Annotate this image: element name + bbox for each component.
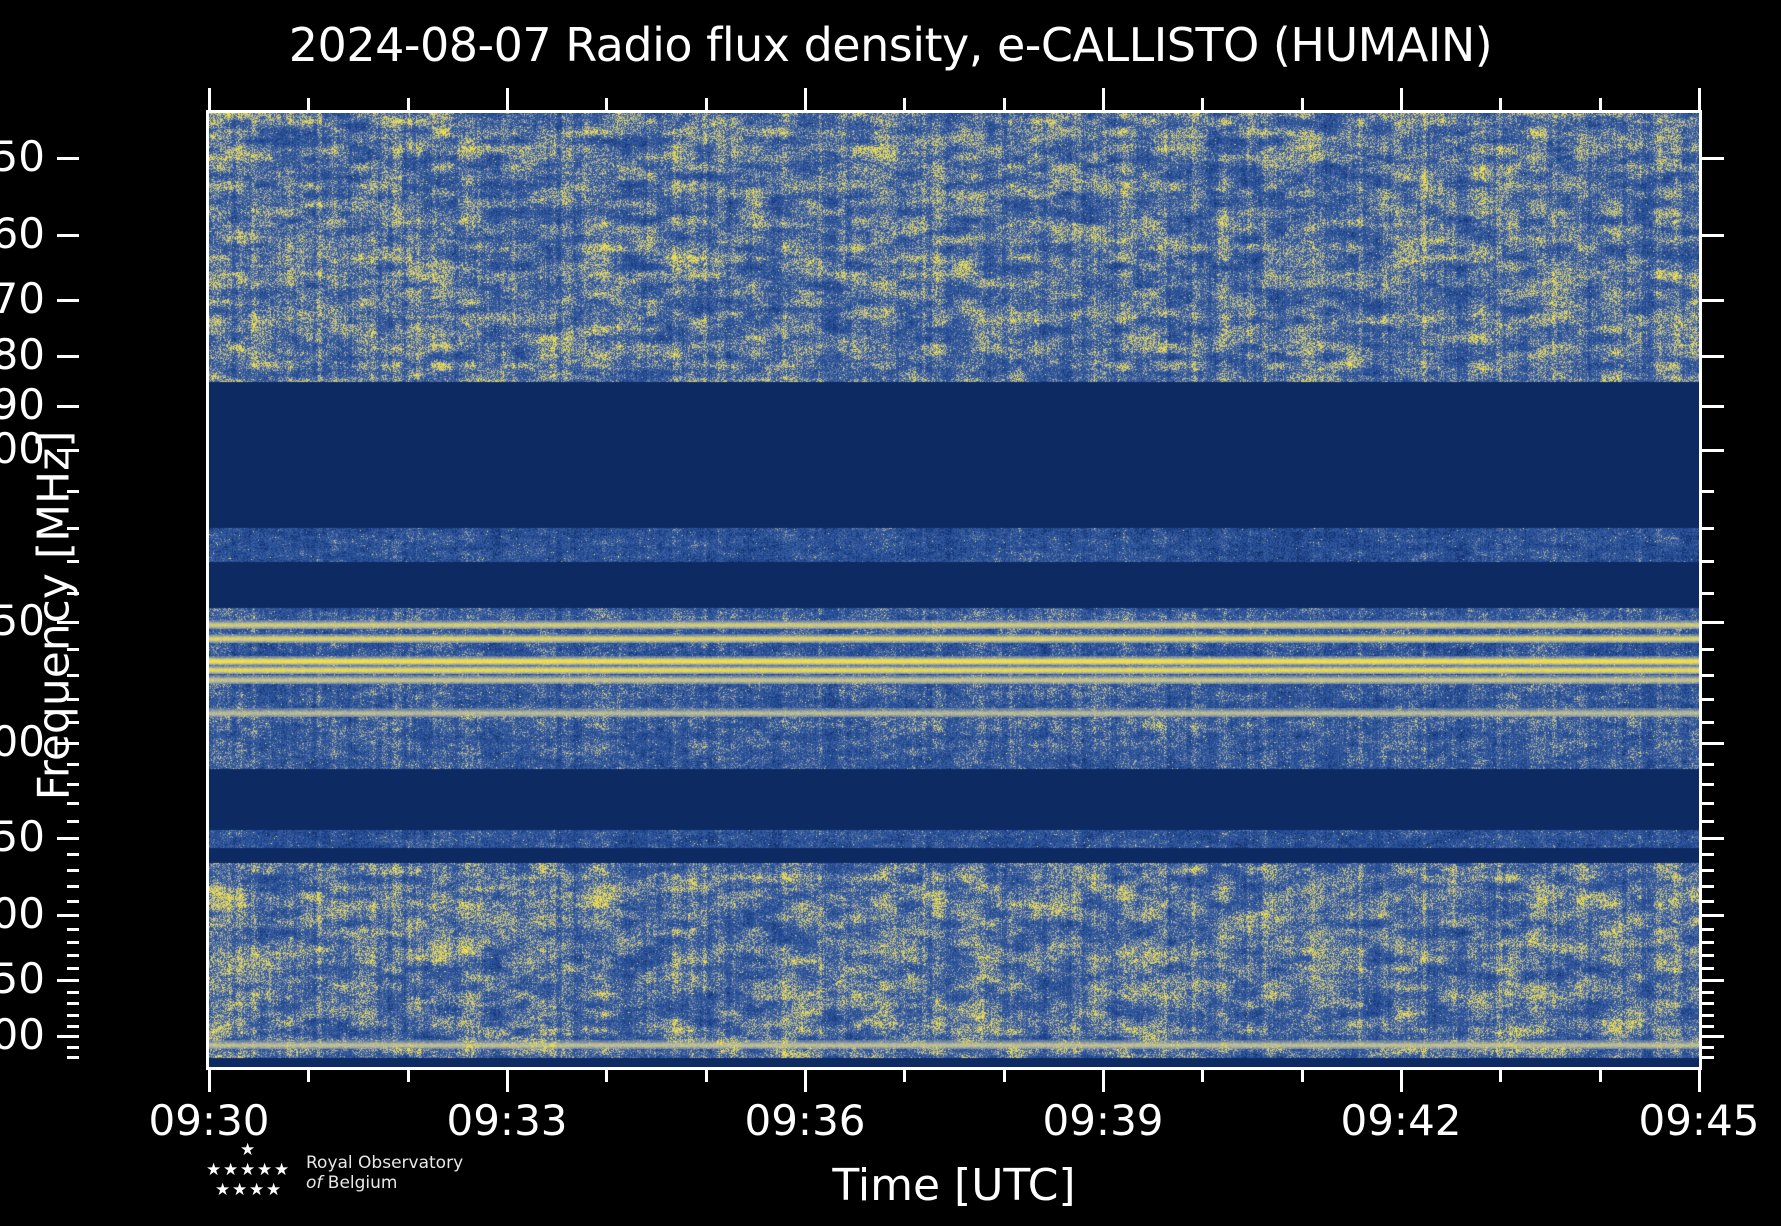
star-icon: ★ (240, 1142, 255, 1159)
y-axis-tick-right-50 (1702, 157, 1724, 160)
star-icon: ★ (206, 1162, 221, 1179)
y-axis-title: Frequency [MHz] (29, 366, 80, 866)
star-icon: ★ (240, 1162, 255, 1179)
x-axis-minor-tick (1003, 1070, 1006, 1082)
x-axis-tick-09:36 (804, 1070, 807, 1092)
star-icon: ★ (232, 1182, 247, 1199)
y-axis-tick-350 (57, 979, 79, 982)
y-axis-minor-tick (67, 967, 79, 970)
y-axis-label-60: 60 (0, 213, 45, 255)
y-axis-minor-tick-right (1702, 698, 1714, 701)
y-axis-minor-tick (67, 991, 79, 994)
y-axis-label-400: 400 (0, 1014, 45, 1056)
y-axis-tick-right-100 (1702, 449, 1724, 452)
x-axis-minor-tick (1499, 1070, 1502, 1082)
y-axis-tick-right-70 (1702, 299, 1724, 302)
x-axis-minor-tick-top (1301, 98, 1304, 110)
y-axis-minor-tick-right (1702, 527, 1714, 530)
y-axis-tick-300 (57, 914, 79, 917)
x-axis-tick-top-09:36 (804, 88, 807, 110)
y-axis-label-70: 70 (0, 278, 45, 320)
y-axis-minor-tick-right (1702, 1002, 1714, 1005)
star-icon: ★ (215, 1182, 230, 1199)
star-icon: ★ (257, 1162, 272, 1179)
y-axis-minor-tick-right (1702, 941, 1714, 944)
x-axis-tick-09:33 (506, 1070, 509, 1092)
x-axis-minor-tick-top (1599, 98, 1602, 110)
y-axis-minor-tick (67, 885, 79, 888)
x-axis-tick-09:45 (1698, 1070, 1701, 1092)
y-axis-minor-tick-right (1702, 721, 1714, 724)
y-axis-minor-tick-right (1702, 869, 1714, 872)
y-axis-minor-tick-right (1702, 674, 1714, 677)
x-axis-label-09:39: 09:39 (1042, 1100, 1163, 1142)
y-axis-tick-80 (57, 355, 79, 358)
logo-organisation-name: Royal Observatory (306, 1153, 463, 1173)
y-axis-tick-right-80 (1702, 355, 1724, 358)
x-axis-minor-tick-top (407, 98, 410, 110)
y-axis-minor-tick (67, 941, 79, 944)
y-axis-minor-tick-right (1702, 1025, 1714, 1028)
x-axis-tick-09:30 (208, 1070, 211, 1092)
x-axis-tick-top-09:39 (1102, 88, 1105, 110)
logo-country-line: of Belgium (306, 1173, 463, 1193)
y-axis-label-300: 300 (0, 893, 45, 935)
star-icon: ★ (249, 1182, 264, 1199)
royal-observatory-logo: ★★★★★★★★★★ Royal Observatory of Belgium (200, 1142, 463, 1204)
y-axis-tick-400 (57, 1035, 79, 1038)
y-axis-minor-tick (67, 1014, 79, 1017)
x-axis-tick-top-09:42 (1400, 88, 1403, 110)
y-axis-minor-tick-right (1702, 885, 1714, 888)
y-axis-minor-tick-right (1702, 967, 1714, 970)
star-icon: ★ (266, 1182, 281, 1199)
y-axis-minor-tick-right (1702, 763, 1714, 766)
y-axis-minor-tick-right (1702, 592, 1714, 595)
logo-of-word: of (306, 1173, 322, 1193)
x-axis-minor-tick (705, 1070, 708, 1082)
y-axis-label-350: 350 (0, 958, 45, 1000)
star-icon: ★ (223, 1162, 238, 1179)
y-axis-minor-tick (67, 869, 79, 872)
y-axis-minor-tick-right (1702, 560, 1714, 563)
x-axis-minor-tick (903, 1070, 906, 1082)
x-axis-tick-top-09:33 (506, 88, 509, 110)
x-axis-minor-tick-top (1499, 98, 1502, 110)
y-axis-minor-tick-right (1702, 820, 1714, 823)
x-axis-minor-tick-top (307, 98, 310, 110)
y-axis-tick-right-200 (1702, 742, 1724, 745)
star-icon: ★ (274, 1162, 289, 1179)
y-axis-minor-tick-right (1702, 928, 1714, 931)
x-axis-minor-tick-top (1003, 98, 1006, 110)
y-axis-minor-tick-right (1702, 1014, 1714, 1017)
y-axis-minor-tick (67, 1046, 79, 1049)
x-axis-minor-tick (407, 1070, 410, 1082)
y-axis-minor-tick-right (1702, 783, 1714, 786)
x-axis-minor-tick-top (903, 98, 906, 110)
y-axis-tick-70 (57, 299, 79, 302)
x-axis-label-09:36: 09:36 (744, 1100, 865, 1142)
y-axis-minor-tick (67, 1056, 79, 1059)
y-axis-minor-tick (67, 1025, 79, 1028)
y-axis-minor-tick-right (1702, 490, 1714, 493)
y-axis-tick-right-300 (1702, 914, 1724, 917)
y-axis-minor-tick-right (1702, 1046, 1714, 1049)
y-axis-tick-right-60 (1702, 234, 1724, 237)
stars-icon: ★★★★★★★★★★ (200, 1142, 292, 1204)
y-axis-tick-60 (57, 234, 79, 237)
spectrogram-plot-area (206, 110, 1702, 1070)
y-axis-minor-tick-right (1702, 1056, 1714, 1059)
x-axis-minor-tick (1599, 1070, 1602, 1082)
x-axis-minor-tick-top (705, 98, 708, 110)
y-axis-tick-right-350 (1702, 979, 1724, 982)
y-axis-minor-tick-right (1702, 648, 1714, 651)
y-axis-minor-tick (67, 900, 79, 903)
y-axis-tick-right-150 (1702, 621, 1724, 624)
y-axis-tick-right-250 (1702, 837, 1724, 840)
x-axis-label-09:30: 09:30 (148, 1100, 269, 1142)
y-axis-minor-tick-right (1702, 991, 1714, 994)
x-axis-minor-tick (1301, 1070, 1304, 1082)
y-axis-tick-right-90 (1702, 405, 1724, 408)
x-axis-minor-tick (1201, 1070, 1204, 1082)
y-axis-tick-50 (57, 157, 79, 160)
y-axis-minor-tick (67, 954, 79, 957)
y-axis-label-50: 50 (0, 136, 45, 178)
y-axis-minor-tick (67, 928, 79, 931)
page-title: 2024-08-07 Radio flux density, e-CALLIST… (0, 18, 1781, 72)
x-axis-label-09:45: 09:45 (1638, 1100, 1759, 1142)
logo-text: Royal Observatory of Belgium (306, 1153, 463, 1193)
y-axis-minor-tick-right (1702, 900, 1714, 903)
x-axis-minor-tick-top (1201, 98, 1204, 110)
x-axis-tick-09:39 (1102, 1070, 1105, 1092)
y-axis-minor-tick-right (1702, 954, 1714, 957)
logo-country-name: Belgium (328, 1173, 398, 1193)
x-axis-minor-tick (605, 1070, 608, 1082)
x-axis-label-09:33: 09:33 (446, 1100, 567, 1142)
y-axis-minor-tick-right (1702, 853, 1714, 856)
x-axis-label-09:42: 09:42 (1340, 1100, 1461, 1142)
spectrogram-image (209, 113, 1699, 1067)
x-axis-tick-top-09:45 (1698, 88, 1701, 110)
y-axis-minor-tick-right (1702, 802, 1714, 805)
x-axis-tick-top-09:30 (208, 88, 211, 110)
x-axis-minor-tick (307, 1070, 310, 1082)
y-axis-tick-right-400 (1702, 1035, 1724, 1038)
x-axis-minor-tick-top (605, 98, 608, 110)
y-axis-minor-tick (67, 1002, 79, 1005)
x-axis-tick-09:42 (1400, 1070, 1403, 1092)
